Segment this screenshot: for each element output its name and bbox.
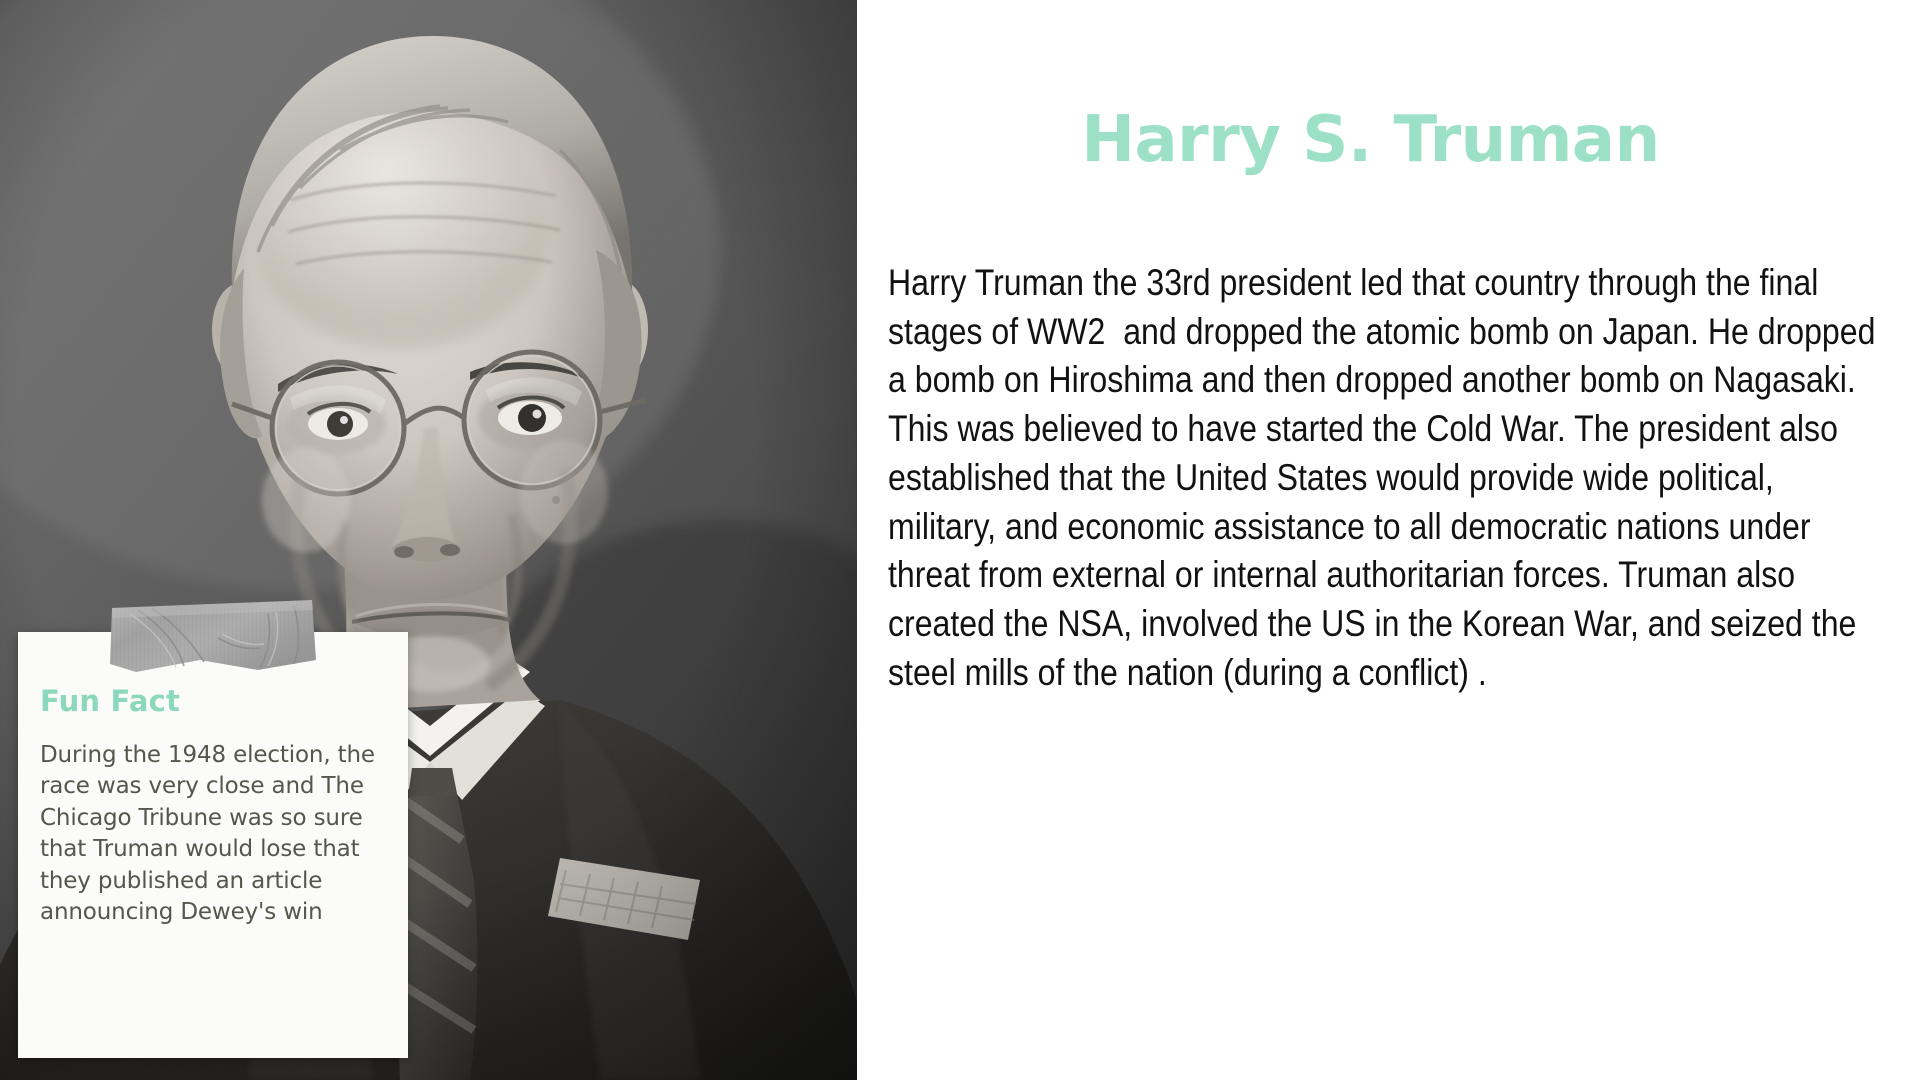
body-paragraph: Harry Truman the 33rd president led that… bbox=[888, 258, 1878, 696]
page-title: Harry S. Truman bbox=[857, 108, 1884, 172]
content-panel: Harry S. Truman Harry Truman the 33rd pr… bbox=[857, 0, 1920, 1080]
fun-fact-body: During the 1948 election, the race was v… bbox=[40, 740, 386, 928]
fun-fact-heading: Fun Fact bbox=[40, 684, 386, 718]
fun-fact-card: Fun Fact During the 1948 election, the r… bbox=[18, 632, 408, 1058]
